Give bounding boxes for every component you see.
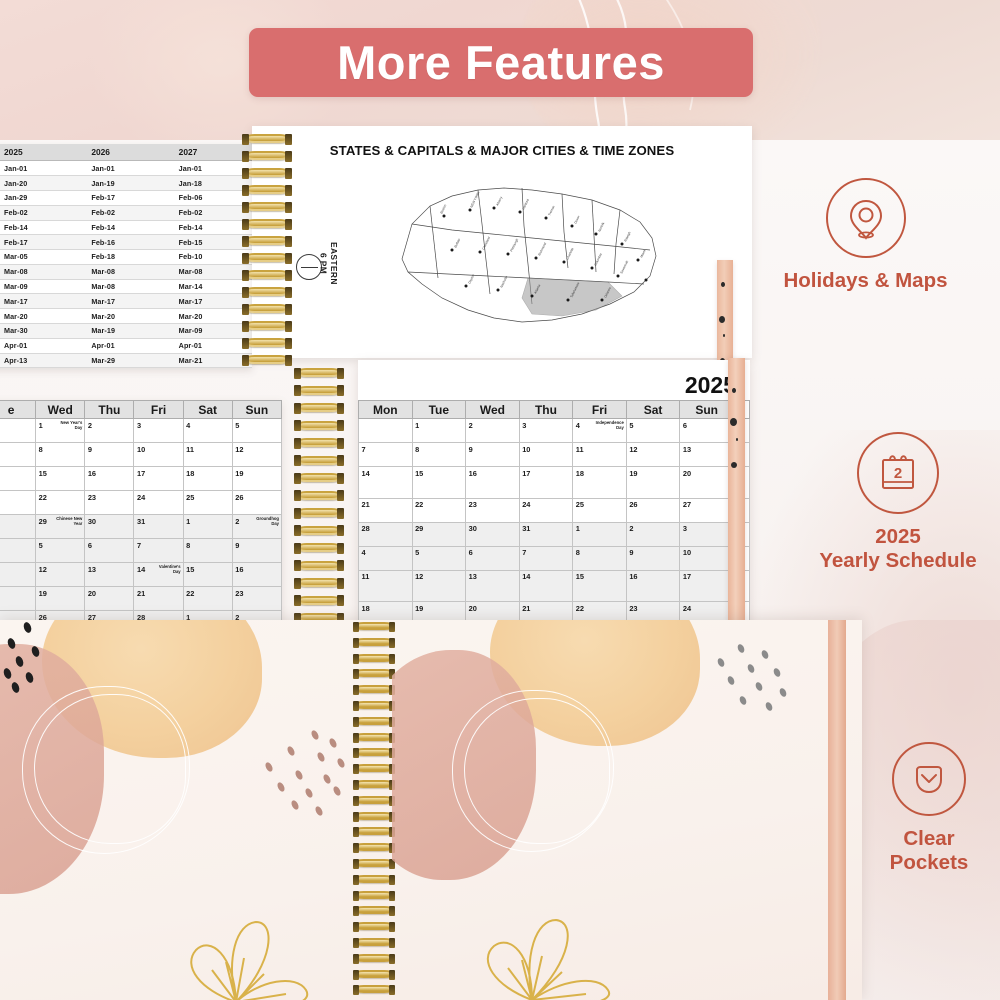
holidays-cell: Jan-20 [0,176,77,191]
speck [731,462,737,468]
calendar-day-cell[interactable]: 13 [680,443,734,467]
cover-left-panel [0,620,362,1000]
calendar-day-cell[interactable]: 5 [232,419,281,443]
holidays-cell: Mar-17 [77,294,164,309]
spiral-coil [244,134,290,143]
cover-dots-grey [710,644,790,714]
holidays-cell: Mar-14 [165,279,252,294]
holidays-col-header-0: 2025 [0,144,77,161]
usa-map-icon: Boston NEW YORK Albany Hartford Trenton … [382,164,682,344]
calendar-day-cell[interactable] [0,539,36,563]
calendar-weekday-sun: Sun [680,401,734,419]
holidays-cell: Mar-08 [77,279,164,294]
calendar-day-number: 22 [39,493,47,502]
calendar-day-cell[interactable]: 3 [519,419,573,443]
calendar-day-cell[interactable] [0,419,36,443]
calendar-day-number: 16 [469,469,477,478]
calendar-day-cell[interactable]: 8 [183,539,232,563]
calendar-day-number: 6 [88,541,92,550]
speck [732,388,736,393]
calendar-day-number: 13 [469,572,477,581]
feature-label-schedule-year: 2025 [875,525,921,548]
svg-text:Savannah: Savannah [619,260,629,275]
calendar-day-number: 1 [186,517,190,526]
calendar-holiday-label: Independence Day [592,421,624,431]
calendar-day-number: 21 [522,604,530,613]
calendar-day-cell[interactable]: 8 [36,443,85,467]
notebook-cover [0,620,862,1000]
holidays-row: Mar-08Mar-08Mar-08 [0,264,252,279]
spiral-coil [354,875,394,883]
calendar-day-number: 24 [522,500,530,509]
calendar-day-cell[interactable]: 4 [359,546,413,570]
spiral-coil [244,219,290,228]
calendar-weekday-sun: Sun [232,401,281,419]
map-page: STATES & CAPITALS & MAJOR CITIES & TIME … [252,126,752,358]
feature-label-pockets-line2: Pockets [890,851,969,874]
calendar-day-cell[interactable]: 5 [626,419,680,443]
calendar-day-cell[interactable]: 30 [85,515,134,539]
holidays-cell: Mar-09 [165,323,252,338]
calendar-week-row: 21222324252627 [359,498,750,522]
calendar-weekday-tue: Tue [412,401,466,419]
calendar-day-number: 3 [522,421,526,430]
calendar-week-row: 28293031123 [359,522,750,546]
calendar-day-cell[interactable]: 16 [232,563,281,587]
calendar-day-cell[interactable]: 9 [232,539,281,563]
holidays-row: Mar-09Mar-08Mar-14 [0,279,252,294]
calendar-day-number: 13 [88,565,96,574]
calendar-day-number: 30 [88,517,96,526]
calendar-week-row: 1920212223 [0,587,282,611]
holidays-cell: Apr-01 [0,338,77,353]
calendar-day-cell[interactable]: 12 [412,570,466,602]
spiral-coil [296,403,342,412]
calendar-day-number: 9 [629,548,633,557]
holidays-map-spread: 202520262027 Jan-01Jan-01Jan-01Jan-20Jan… [0,126,765,366]
spiral-binding-mid [294,366,346,628]
spiral-coil [354,622,394,630]
calendar-day-cell[interactable]: 3 [134,419,183,443]
calendar-day-number: 16 [629,572,637,581]
spiral-coil [354,970,394,978]
calendar-day-number: 2 [88,421,92,430]
holidays-row: Jan-29Feb-17Feb-06 [0,190,252,205]
calendar-day-cell[interactable]: 27 [680,498,734,522]
calendar-day-number: 4 [576,421,580,430]
holidays-cell: Feb-15 [165,235,252,250]
holidays-cell: Feb-16 [77,235,164,250]
calendar-weekday-fri: Fri [573,401,627,419]
calendar-day-cell[interactable]: 26 [626,498,680,522]
calendar-day-number: 31 [522,524,530,533]
calendar-day-cell[interactable]: 11 [183,443,232,467]
calendar-day-cell[interactable]: 14 [359,467,413,499]
svg-text:Dover: Dover [573,214,581,224]
holidays-cell: Mar-20 [165,309,252,324]
spiral-coil [354,717,394,725]
calendar-day-cell[interactable]: 31 [519,522,573,546]
map-title: STATES & CAPITALS & MAJOR CITIES & TIME … [252,143,752,158]
calendar-day-cell[interactable]: 3 [680,522,734,546]
calendar-day-cell[interactable]: 9 [466,443,520,467]
calendar-day-number: 29 [415,524,423,533]
calendar-day-cell[interactable]: 19 [36,587,85,611]
calendar-day-cell[interactable]: 16 [85,467,134,491]
calendar-day-cell[interactable]: 31 [134,515,183,539]
calendar-day-number: 17 [137,469,145,478]
calendar-day-number: 8 [186,541,190,550]
calendar-day-cell[interactable] [0,467,36,491]
calendar-day-number: 28 [362,524,370,533]
calendar-day-number: 1 [576,524,580,533]
calendar-day-cell[interactable]: 15 [573,570,627,602]
calendar-day-cell[interactable]: 1New Year's Day [36,419,85,443]
calendar-weekday-thu: Thu [85,401,134,419]
calendar-badge-number: 2 [894,465,902,482]
calendar-day-number: 1 [415,421,419,430]
calendar-day-number: 24 [683,604,691,613]
calendar-day-cell[interactable] [0,515,36,539]
calendar-day-cell[interactable]: 8 [573,546,627,570]
calendar-day-number: 29 [39,517,47,526]
calendar-day-number: 6 [469,548,473,557]
calendar-day-number: 18 [362,604,370,613]
calendar-day-number: 21 [362,500,370,509]
calendar-holiday-label: Chinese New Year [53,517,82,527]
calendar-day-number: 22 [576,604,584,613]
calendar-day-cell[interactable]: 22 [183,587,232,611]
spiral-coil [354,701,394,709]
calendar-day-number: 5 [415,548,419,557]
calendar-day-cell[interactable]: 2 [466,419,520,443]
calendar-day-cell[interactable]: 1 [412,419,466,443]
calendar-day-number: 10 [137,445,145,454]
holidays-cell: Mar-08 [165,264,252,279]
calendar-table-left: eWedThuFriSatSun 1New Year's Day23458910… [0,400,282,640]
calendar-day-cell[interactable]: 13 [466,570,520,602]
svg-text:Albany: Albany [495,196,503,207]
calendar-day-cell[interactable]: 28 [359,522,413,546]
holidays-cell: Feb-10 [165,250,252,265]
calendar-week-row: 78910111213 [359,443,750,467]
cover-right-panel [392,620,862,1000]
calendar-day-cell[interactable] [0,587,36,611]
calendar-day-number: 20 [469,604,477,613]
calendar-day-cell[interactable]: 15 [412,467,466,499]
svg-text:Raleigh: Raleigh [623,231,631,243]
calendar-day-cell[interactable]: 15 [36,467,85,491]
calendar-day-cell[interactable]: 10 [680,546,734,570]
calendar-day-number: 19 [629,469,637,478]
calendar-day-number: 22 [186,589,194,598]
spiral-coil [244,321,290,330]
holidays-cell: Feb-06 [165,190,252,205]
calendar-day-number: 11 [576,445,584,454]
calendar-day-cell[interactable]: 23 [85,491,134,515]
spiral-coil [354,938,394,946]
calendar-day-number: 8 [415,445,419,454]
calendar-day-number: 10 [522,445,530,454]
calendar-day-number: 14 [522,572,530,581]
spiral-coil [244,287,290,296]
calendar-day-cell[interactable] [0,443,36,467]
calendar-day-cell[interactable]: 23 [466,498,520,522]
calendar-day-cell[interactable]: 20 [85,587,134,611]
calendar-day-number: 23 [235,589,243,598]
calendar-day-cell[interactable]: 2 [85,419,134,443]
holidays-col-header-1: 2026 [77,144,164,161]
holidays-cell: Feb-14 [165,220,252,235]
calendar-right-header-row: MonTueWedThuFriSatSun [359,401,750,419]
calendar-day-number: 15 [576,572,584,581]
spiral-coil [296,456,342,465]
cover-ring-inner [464,698,610,844]
spiral-coil [354,827,394,835]
calendar-day-cell[interactable] [359,419,413,443]
calendar-day-number: 9 [235,541,239,550]
spiral-coil [296,578,342,587]
spiral-coil [354,654,394,662]
calendar-day-cell[interactable]: 11 [573,443,627,467]
calendar-week-row: 89101112 [0,443,282,467]
calendar-day-number: 3 [683,524,687,533]
calendar-day-number: 23 [469,500,477,509]
feature-label-schedule-text: Yearly Schedule [819,549,976,572]
calendar-day-number: 19 [235,469,243,478]
calendar-week-row: 2223242526 [0,491,282,515]
calendar-day-number: 13 [683,445,691,454]
calendar-day-cell[interactable]: 21 [134,587,183,611]
timezone-zone: EASTERN [329,242,339,285]
calendar-day-number: 6 [683,421,687,430]
holidays-row: Mar-05Feb-18Feb-10 [0,250,252,265]
calendar-day-number: 7 [362,445,366,454]
calendar-week-row: 11121314151617AUG [359,570,750,602]
monthly-calendar-spread: eWedThuFriSatSun 1New Year's Day23458910… [0,360,776,640]
holidays-table-body: Jan-01Jan-01Jan-01Jan-20Jan-19Jan-18Jan-… [0,161,252,368]
calendar-day-cell[interactable]: 12 [232,443,281,467]
feature-clear-pockets: Clear Pockets [860,742,998,875]
svg-text:Miami: Miami [639,249,646,259]
calendar-day-cell[interactable]: 16 [466,467,520,499]
calendar-day-number: 23 [88,493,96,502]
calendar-day-number: 19 [39,589,47,598]
calendar-day-cell[interactable] [0,563,36,587]
calendar-day-cell[interactable]: 14 [519,570,573,602]
calendar-day-cell[interactable]: 17 [134,467,183,491]
calendar-week-row: 56789 [0,539,282,563]
calendar-day-number: 10 [683,548,691,557]
calendar-day-number: 3 [137,421,141,430]
calendar-day-cell[interactable]: 6 [680,419,734,443]
spiral-coil [244,253,290,262]
calendar-day-number: 2 [469,421,473,430]
calendar-week-row: 29Chinese New Year303112Groundhog Day [0,515,282,539]
calendar-day-cell[interactable]: 21 [359,498,413,522]
calendar-day-number: 9 [88,445,92,454]
calendar-day-cell[interactable] [0,491,36,515]
calendar-day-number: 18 [186,469,194,478]
calendar-day-cell[interactable]: 23 [232,587,281,611]
holidays-cell: Feb-02 [0,205,77,220]
calendar-day-number: 14 [362,469,370,478]
calendar-day-number: 20 [683,469,691,478]
calendar-day-cell[interactable]: 29 [412,522,466,546]
spiral-coil [296,526,342,535]
spiral-coil [296,561,342,570]
calendar-day-cell[interactable]: 8 [412,443,466,467]
calendar-day-cell[interactable]: 20 [680,467,734,499]
calendar-day-cell[interactable]: 9 [626,546,680,570]
calendar-day-cell[interactable]: 12 [626,443,680,467]
calendar-holiday-label: Groundhog Day [250,517,279,527]
calendar-day-number: 7 [522,548,526,557]
calendar-day-cell[interactable]: 15 [183,563,232,587]
calendar-day-cell[interactable]: 24 [519,498,573,522]
calendar-day-number: 7 [137,541,141,550]
spiral-coil [354,748,394,756]
cover-ring-inner [34,694,186,844]
holidays-row: Mar-17Mar-17Mar-17 [0,294,252,309]
calendar-table-right: MonTueWedThuFriSatSun 1234Independence D… [358,400,750,640]
calendar-day-cell[interactable]: 26 [232,491,281,515]
calendar-day-cell[interactable]: 30 [466,522,520,546]
calendar-day-number: 15 [415,469,423,478]
page-title: More Features [337,39,665,86]
holidays-row: Feb-02Feb-02Feb-02 [0,205,252,220]
spiral-coil [244,236,290,245]
holidays-cell: Mar-20 [77,309,164,324]
calendar-day-cell[interactable]: 10 [519,443,573,467]
calendar-weekday-wed: Wed [466,401,520,419]
spiral-coil [354,780,394,788]
spiral-coil [296,421,342,430]
holidays-cell: Feb-17 [77,190,164,205]
calendar-week-row: 45678910 [359,546,750,570]
calendar-weekday-wed: Wed [36,401,85,419]
calendar-day-cell[interactable]: 18 [183,467,232,491]
calendar-day-number: 14 [137,565,145,574]
feature-holidays-maps: Holidays & Maps [763,178,968,293]
holidays-cell: Mar-17 [165,294,252,309]
speck [730,418,737,426]
calendar-day-cell[interactable]: 2 [626,522,680,546]
spiral-coil [354,954,394,962]
calendar-day-cell[interactable]: 25 [573,498,627,522]
calendar-day-number: 5 [39,541,43,550]
spiral-coil [354,638,394,646]
calendar-day-cell[interactable]: 19 [626,467,680,499]
holidays-cell: Apr-01 [77,338,164,353]
spiral-coil [354,906,394,914]
calendar-day-cell[interactable]: 9 [85,443,134,467]
holidays-row: Jan-20Jan-19Jan-18 [0,176,252,191]
calendar-week-row: 1516171819 [0,467,282,491]
calendar-day-number: 9 [469,445,473,454]
calendar-day-cell[interactable]: 17 [680,570,734,602]
holidays-page: 202520262027 Jan-01Jan-01Jan-01Jan-20Jan… [0,144,252,368]
calendar-day-cell[interactable]: 14Valentine's Day [134,563,183,587]
calendar-day-number: 12 [39,565,47,574]
holidays-cell: Jan-01 [77,161,164,176]
page-edge-tab-cover [828,620,846,1000]
calendar-day-cell[interactable]: 11 [359,570,413,602]
holidays-cell: Feb-14 [77,220,164,235]
spiral-coil [354,733,394,741]
calendar-weekday-thu: Thu [519,401,573,419]
calendar-day-number: 11 [186,445,194,454]
calendar-day-number: 19 [415,604,423,613]
feature-label-pockets-line1: Clear [903,827,954,850]
calendar-day-cell[interactable]: 18 [573,467,627,499]
calendar-day-cell[interactable]: 19 [232,467,281,491]
calendar-day-number: 17 [683,572,691,581]
holidays-cell: Mar-19 [77,323,164,338]
feature-yearly-schedule: 2 2025 Yearly Schedule [800,432,996,573]
pocket-icon [892,742,966,816]
holidays-col-header-2: 2027 [165,144,252,161]
calendar-day-cell[interactable]: 5 [412,546,466,570]
calendar-day-cell[interactable]: 6 [466,546,520,570]
calendar-day-cell[interactable]: 7 [519,546,573,570]
calendar-weekday-sat: Sat [626,401,680,419]
calendar-day-number: 8 [39,445,43,454]
calendar-day-cell[interactable]: 13 [85,563,134,587]
calendar-day-cell[interactable]: 1 [183,515,232,539]
calendar-day-cell[interactable]: 4Independence Day [573,419,627,443]
calendar-page-right: 2025 MonTueWedThuFriSatSun 1234Independe… [358,360,750,640]
holidays-row: Feb-17Feb-16Feb-15 [0,235,252,250]
spiral-coil [296,508,342,517]
calendar-left-header-row: eWedThuFriSatSun [0,401,282,419]
calendar-day-cell[interactable]: 10 [134,443,183,467]
holidays-row: Jan-01Jan-01Jan-01 [0,161,252,176]
calendar-day-number: 11 [362,572,370,581]
spiral-coil [244,304,290,313]
calendar-day-cell[interactable]: 17 [519,467,573,499]
calendar-day-cell[interactable]: 2Groundhog Day [232,515,281,539]
calendar-day-cell[interactable]: 29Chinese New Year [36,515,85,539]
calendar-day-cell[interactable]: 22 [412,498,466,522]
holidays-table: 202520262027 Jan-01Jan-01Jan-01Jan-20Jan… [0,144,252,368]
calendar-day-cell[interactable]: 22 [36,491,85,515]
svg-text:Cleveland: Cleveland [481,236,491,251]
calendar-day-cell[interactable]: 25 [183,491,232,515]
calendar-day-cell[interactable]: 12 [36,563,85,587]
holidays-table-header-row: 202520262027 [0,144,252,161]
holidays-row: Feb-14Feb-14Feb-14 [0,220,252,235]
calendar-week-row: 1234Independence Day56 [359,419,750,443]
calendar-day-cell[interactable]: 5 [36,539,85,563]
calendar-day-number: 17 [522,469,530,478]
calendar-day-cell[interactable]: 6 [85,539,134,563]
calendar-day-cell[interactable]: 7 [134,539,183,563]
spiral-coil [296,438,342,447]
calendar-day-cell[interactable]: 7 [359,443,413,467]
calendar-week-row: 14151617181920JUL [359,467,750,499]
spiral-coil [354,859,394,867]
calendar-page-left: eWedThuFriSatSun 1New Year's Day23458910… [0,400,282,640]
speck [719,316,725,323]
speck [736,438,738,441]
spiral-coil [244,202,290,211]
calendar-day-cell[interactable]: 4 [183,419,232,443]
calendar-day-cell[interactable]: 16 [626,570,680,602]
calendar-day-cell[interactable]: 24 [134,491,183,515]
calendar-day-cell[interactable]: 1 [573,522,627,546]
cover-dots-rose [258,730,350,822]
